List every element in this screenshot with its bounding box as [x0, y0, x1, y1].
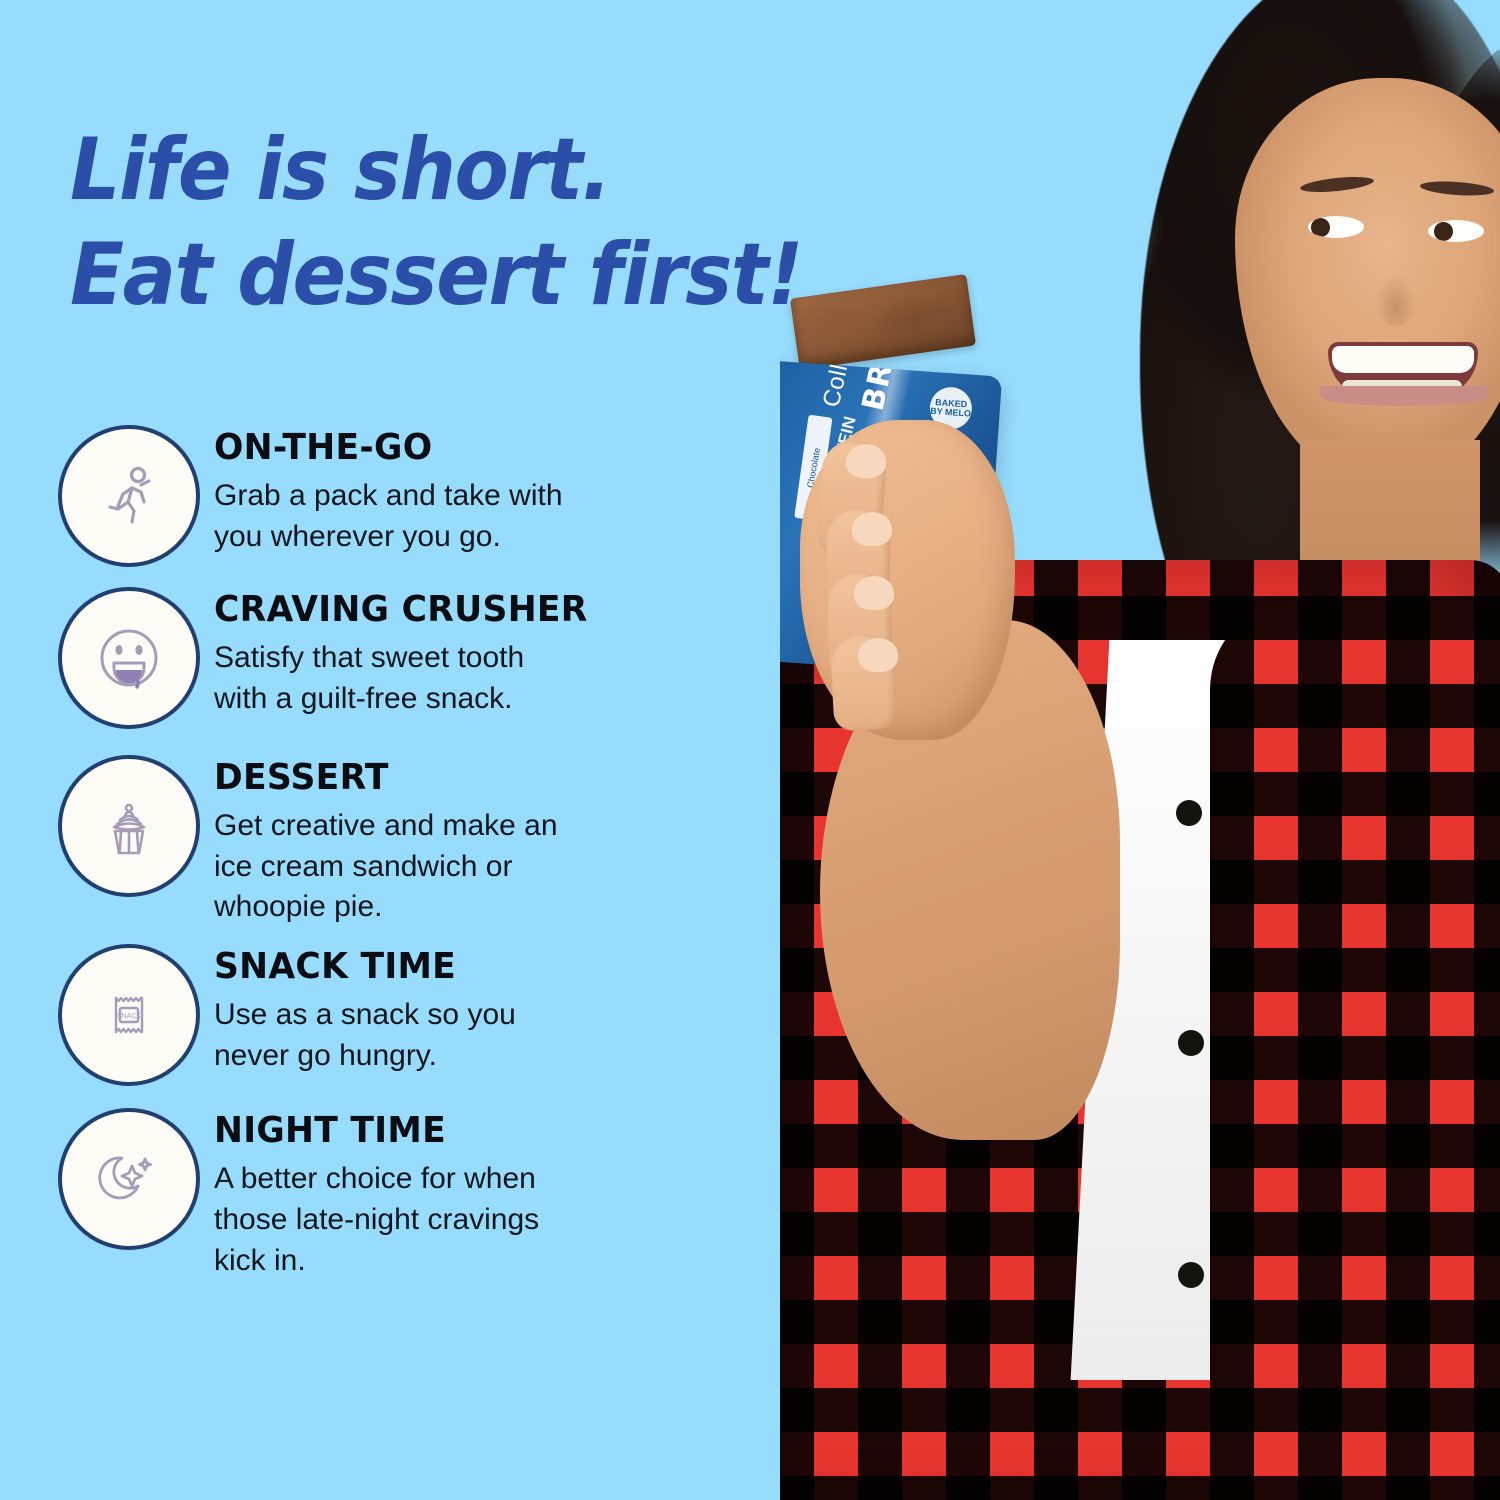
teeth-upper — [1332, 346, 1474, 373]
fingernail — [858, 638, 898, 672]
benefit-title: SNACK TIME — [214, 948, 669, 986]
benefit-title: DESSERT — [214, 759, 669, 797]
benefit-icon-circle — [58, 587, 200, 729]
benefit-description: A better choice for when those late-nigh… — [214, 1159, 569, 1281]
benefit-title: NIGHT TIME — [214, 1112, 669, 1150]
benefit-description: Get creative and make an ice cream sandw… — [214, 806, 569, 928]
benefit-item-night-time: NIGHT TIME A better choice for when thos… — [58, 1108, 688, 1281]
benefit-text: NIGHT TIME A better choice for when thos… — [214, 1108, 688, 1281]
cupcake-icon — [94, 791, 164, 861]
benefit-title: ON-THE-GO — [214, 429, 669, 467]
eye-right — [1428, 220, 1484, 242]
eye-left — [1308, 216, 1364, 238]
snack-wrapper-text: SNACK — [117, 1013, 141, 1020]
benefit-icon-circle — [58, 1108, 200, 1250]
running-person-icon — [94, 461, 164, 531]
benefit-text: DESSERT Get creative and make an ice cre… — [214, 755, 688, 928]
benefit-description: Grab a pack and take with you wherever y… — [214, 476, 569, 558]
shirt-button — [1176, 800, 1202, 826]
benefit-text: CRAVING CRUSHER Satisfy that sweet tooth… — [214, 587, 688, 719]
benefit-icon-circle — [58, 755, 200, 897]
drooling-face-icon — [94, 623, 164, 693]
model-photo: BAKED BY MELO Collagen+ BROWNIE 15G PROT… — [780, 0, 1500, 1500]
package-product-name: BROWNIE — [856, 360, 925, 414]
fingernail — [854, 576, 894, 610]
benefit-icon-circle — [58, 425, 200, 567]
plaid-shirt-right — [1210, 600, 1500, 1500]
headline-line-2: Eat dessert first! — [70, 223, 824, 328]
fingernail — [846, 444, 886, 478]
benefit-icon-circle: SNACK — [58, 944, 200, 1086]
fingernail — [852, 512, 892, 546]
marketing-graphic: BAKED BY MELO Collagen+ BROWNIE 15G PROT… — [0, 0, 1500, 1500]
benefit-title: CRAVING CRUSHER — [214, 591, 669, 629]
snack-wrapper-icon: SNACK — [94, 980, 164, 1050]
nose — [1372, 250, 1420, 326]
benefit-item-on-the-go: ON-THE-GO Grab a pack and take with you … — [58, 425, 688, 567]
benefit-item-dessert: DESSERT Get creative and make an ice cre… — [58, 755, 688, 928]
benefits-list: ON-THE-GO Grab a pack and take with you … — [58, 425, 688, 1305]
benefit-item-snack-time: SNACK SNACK TIME Use as a snack so you n… — [58, 944, 688, 1086]
benefit-description: Use as a snack so you never go hungry. — [214, 995, 569, 1077]
lower-lip — [1320, 386, 1488, 406]
headline-line-1: Life is short. — [70, 118, 824, 223]
benefit-text: SNACK TIME Use as a snack so you never g… — [214, 944, 688, 1076]
benefit-text: ON-THE-GO Grab a pack and take with you … — [214, 425, 688, 557]
shirt-button — [1178, 1030, 1204, 1056]
crescent-moon-stars-icon — [94, 1144, 164, 1214]
shirt-button — [1178, 1262, 1204, 1288]
benefit-item-craving-crusher: CRAVING CRUSHER Satisfy that sweet tooth… — [58, 587, 688, 729]
page-title: Life is short. Eat dessert first! — [70, 118, 824, 328]
benefit-description: Satisfy that sweet tooth with a guilt-fr… — [214, 638, 569, 720]
